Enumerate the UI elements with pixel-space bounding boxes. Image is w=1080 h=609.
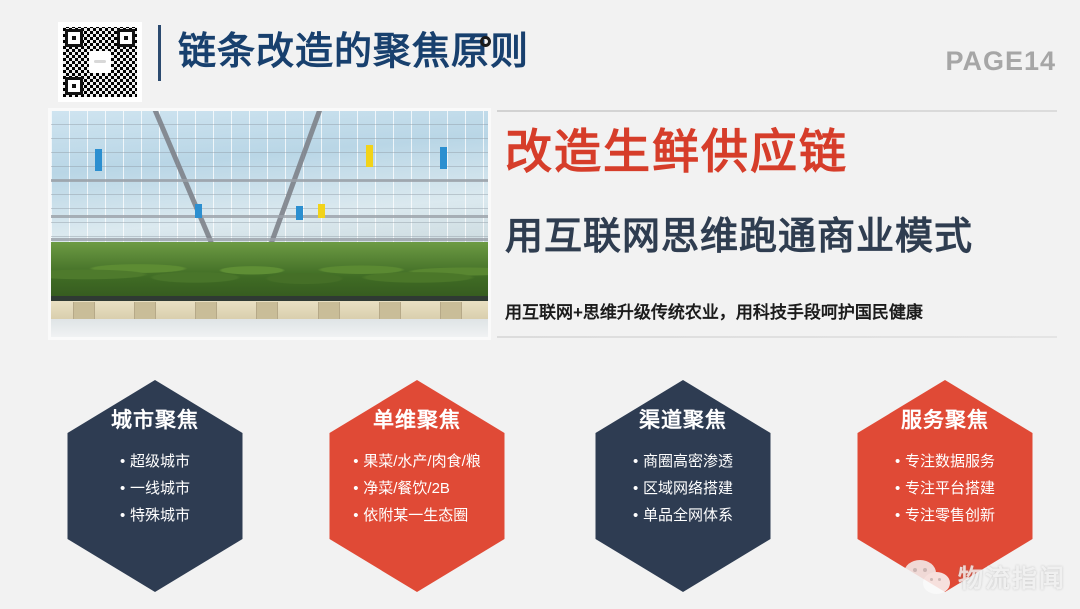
header-divider	[158, 25, 161, 81]
photo-tag-2	[366, 145, 373, 167]
hero-rule	[497, 336, 1057, 338]
photo-tag-6	[318, 204, 325, 218]
hexagon-card-channel[interactable]: 渠道聚焦 商圈高密渗透 区域网络搭建 单品全网体系	[558, 362, 808, 609]
hexagon-bullet: 单品全网体系	[633, 502, 733, 529]
page-title: 链条改造的聚焦原则	[178, 26, 529, 78]
hexagon-bullet: 一线城市	[120, 475, 190, 502]
hero-subtitle: 用互联网+思维升级传统农业，用科技手段呵护国民健康	[505, 298, 923, 323]
qr-finder-top-right	[117, 29, 135, 47]
photo-tag-1	[95, 149, 102, 171]
hexagon-title: 城市聚焦	[111, 404, 199, 434]
hexagon-bullet: 商圈高密渗透	[633, 448, 733, 475]
photo-tag-4	[195, 204, 202, 218]
photo-tag-3	[440, 147, 447, 169]
slide-header: 链条改造的聚焦原则 PAGE14	[0, 0, 1080, 105]
hexagon-bullet: 超级城市	[120, 448, 190, 475]
hexagon-bullet: 专注平台搭建	[895, 475, 995, 502]
hexagon-bullet-list: 超级城市 一线城市 特殊城市	[120, 448, 190, 529]
hexagon-bullet-list: 专注数据服务 专注平台搭建 专注零售创新	[895, 448, 995, 529]
page-number: PAGE14	[945, 46, 1056, 77]
slide-canvas: 链条改造的聚焦原则 PAGE14 改造生鲜供应链 用互联网思维跑通商业模式	[0, 0, 1080, 609]
hexagon-bullet: 专注零售创新	[895, 502, 995, 529]
hexagon-bullet: 果菜/水产/肉食/粮	[353, 448, 481, 475]
hexagon-bullet-list: 商圈高密渗透 区域网络搭建 单品全网体系	[633, 448, 733, 529]
hexagon-title: 渠道聚焦	[639, 404, 727, 434]
hexagon-bullet-list: 果菜/水产/肉食/粮 净菜/餐饮/2B 依附某一生态圈	[353, 448, 481, 529]
photo-floor	[51, 319, 488, 337]
qr-finder-bottom-left	[65, 77, 83, 95]
hexagon-bullet: 特殊城市	[120, 502, 190, 529]
photo-truss-3	[51, 238, 488, 241]
qr-center-logo	[89, 51, 111, 73]
photo-tag-5	[296, 206, 303, 220]
hexagon-bullet: 依附某一生态圈	[353, 502, 481, 529]
hexagon-card-city[interactable]: 城市聚焦 超级城市 一线城市 特殊城市	[30, 362, 280, 609]
title-dot-icon	[480, 36, 491, 47]
hero-title-navy: 用互联网思维跑通商业模式	[505, 212, 973, 262]
watermark: 物流指闻	[904, 559, 1066, 595]
hexagon-bullet: 专注数据服务	[895, 448, 995, 475]
qr-code-icon[interactable]	[58, 22, 142, 102]
hero-title-red: 改造生鲜供应链	[505, 122, 848, 182]
hexagon-bullet: 区域网络搭建	[633, 475, 733, 502]
photo-truss-2	[51, 215, 488, 218]
photo-truss-1	[51, 179, 488, 182]
qr-finder-top-left	[65, 29, 83, 47]
header-rule	[497, 110, 1057, 112]
hexagon-card-single-dimension[interactable]: 单维聚焦 果菜/水产/肉食/粮 净菜/餐饮/2B 依附某一生态圈	[292, 362, 542, 609]
watermark-text: 物流指闻	[958, 559, 1066, 595]
wechat-icon	[904, 560, 950, 594]
photo-plant-canopy	[51, 242, 488, 301]
hexagon-bullet: 净菜/餐饮/2B	[353, 475, 481, 502]
greenhouse-photo	[48, 108, 491, 340]
hexagon-title: 单维聚焦	[373, 404, 461, 434]
hexagon-title: 服务聚焦	[901, 404, 989, 434]
